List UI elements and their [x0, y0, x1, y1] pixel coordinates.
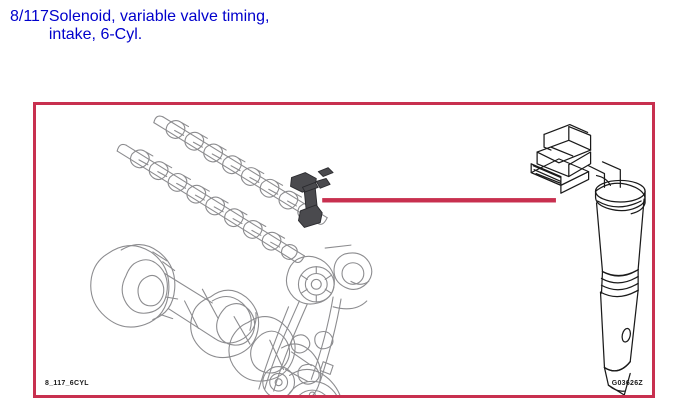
drawing-code-label: G03626Z [612, 380, 643, 387]
technical-illustration [36, 105, 652, 395]
page-title: 8/117 Solenoid, variable valve timing, i… [10, 8, 650, 44]
solenoid-electrical-connector [531, 125, 620, 194]
exhaust-camshaft [154, 116, 327, 224]
crankshaft [91, 245, 343, 395]
drawing-id-label: 8_117_6CYL [45, 380, 89, 387]
callout-leader-line [322, 198, 556, 202]
solenoid-tip [604, 362, 630, 395]
figure-title-line-1: Solenoid, variable valve timing, [49, 8, 270, 25]
illustration-frame: 8_117_6CYL G03626Z [33, 102, 655, 398]
solenoid-upper-body [596, 180, 646, 275]
solenoid-ribbed-section [601, 270, 639, 297]
figure-title-line-2: intake, 6-Cyl. [49, 26, 142, 43]
figure-title: Solenoid, variable valve timing, intake,… [49, 8, 270, 44]
cylinder-head-outline [325, 245, 369, 309]
vvt-solenoid-detail [531, 125, 645, 395]
timing-chain-assembly [259, 253, 372, 395]
figure-number: 8/117 [10, 8, 49, 26]
solenoid-lower-body [601, 290, 639, 371]
